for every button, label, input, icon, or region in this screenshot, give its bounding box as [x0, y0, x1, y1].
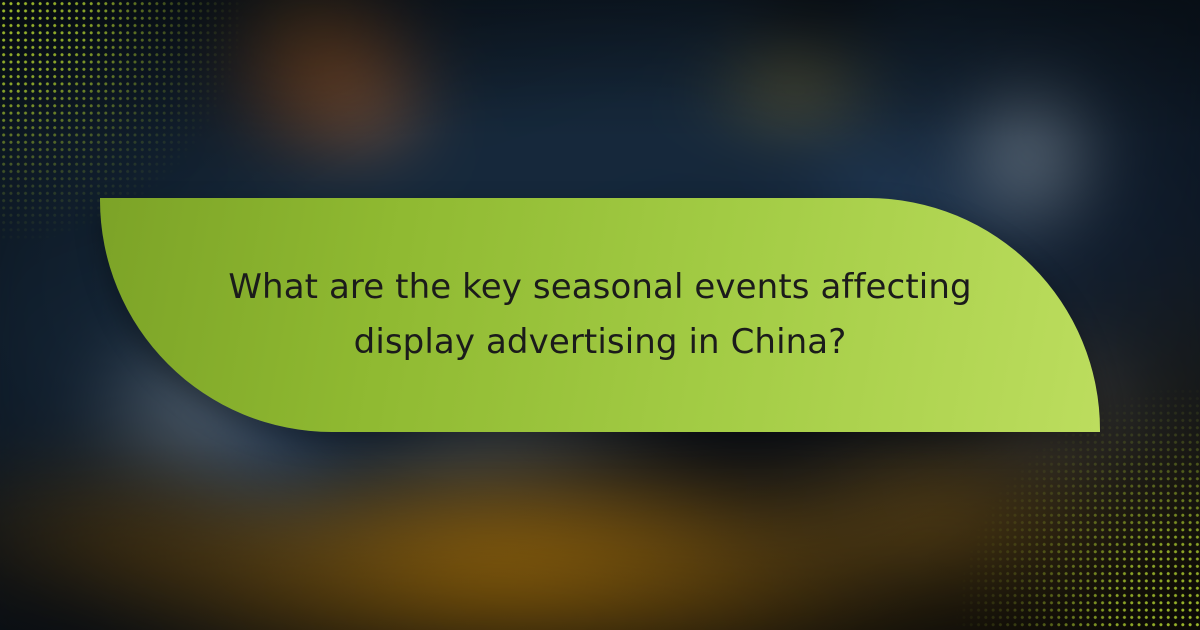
question-banner: What are the key seasonal events affecti…	[100, 198, 1100, 432]
social-card: What are the key seasonal events affecti…	[0, 0, 1200, 630]
question-text: What are the key seasonal events affecti…	[220, 260, 980, 370]
